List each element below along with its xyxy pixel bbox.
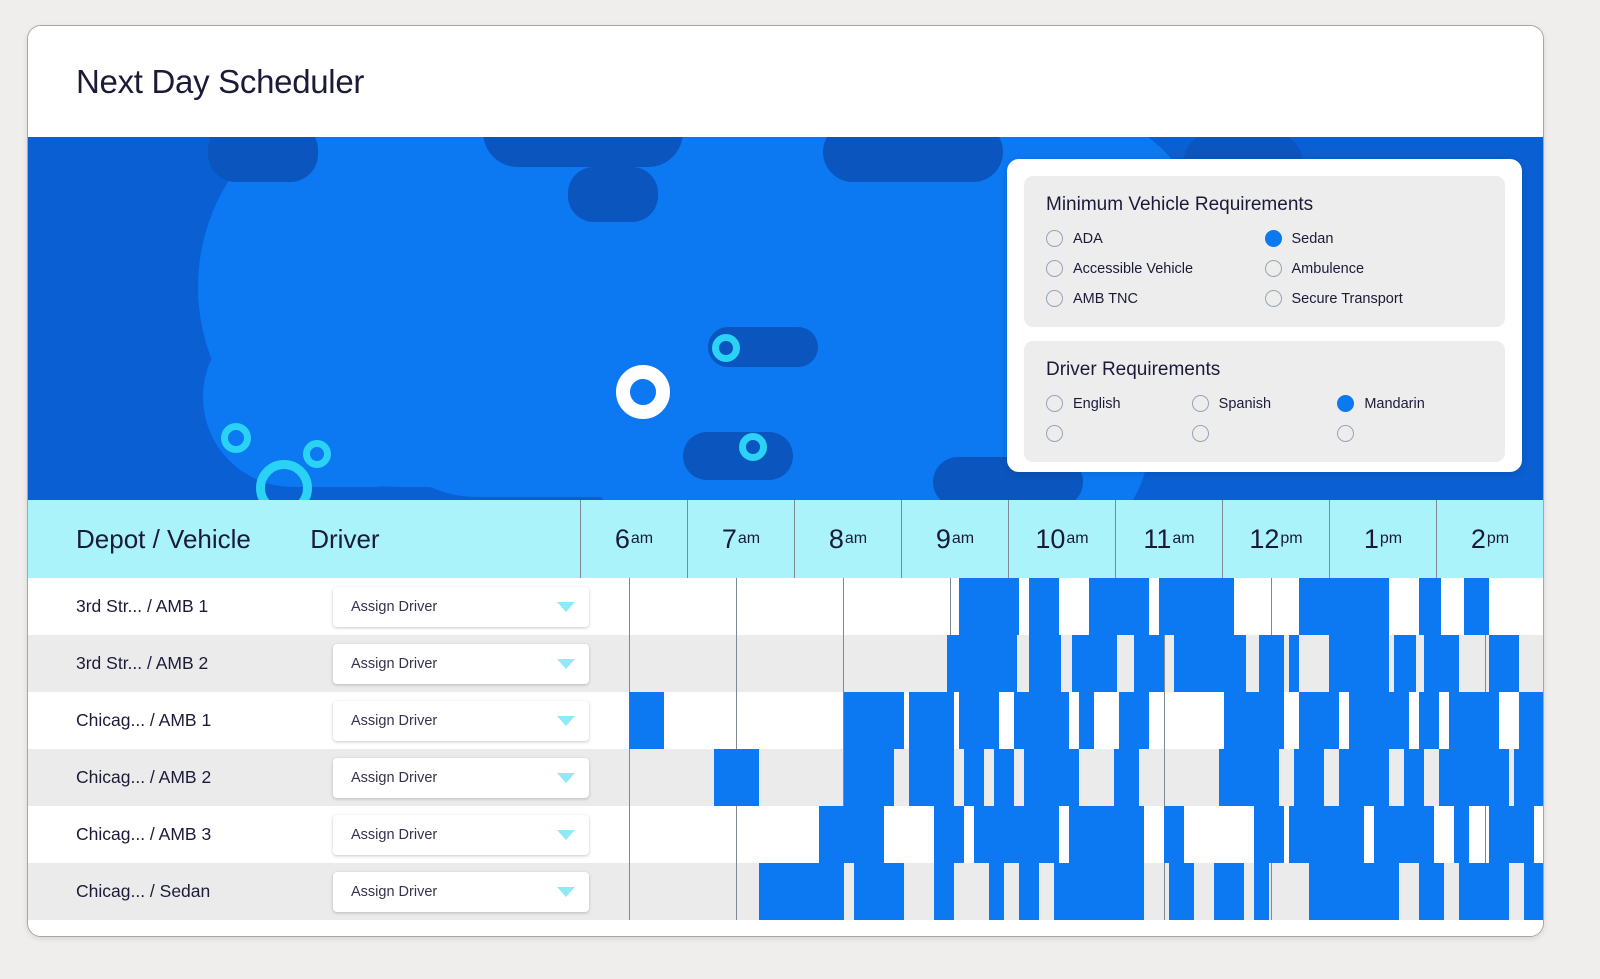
option-secure-transport[interactable]: Secure Transport bbox=[1265, 290, 1484, 307]
grid-line bbox=[1164, 863, 1165, 920]
hour-number: 6 bbox=[615, 524, 630, 555]
option-extra[interactable] bbox=[1046, 425, 1192, 442]
hour-suffix: pm bbox=[1280, 530, 1302, 548]
grid-line bbox=[1164, 635, 1165, 692]
trip-bar[interactable] bbox=[1489, 806, 1534, 863]
grid-line bbox=[1485, 635, 1486, 692]
assign-driver-label: Assign Driver bbox=[351, 656, 437, 672]
service-area-map[interactable]: Minimum Vehicle Requirements ADA Sedan A… bbox=[28, 137, 1543, 500]
hour-suffix: am bbox=[631, 530, 653, 548]
trip-bar[interactable] bbox=[1289, 806, 1364, 863]
app-header: Next Day Scheduler bbox=[28, 26, 1543, 137]
hour-header-12pm: 12pm bbox=[1222, 500, 1329, 578]
hour-axis: 6am7am8am9am10am11am12pm1pm2pm bbox=[580, 500, 1543, 578]
assign-driver-select[interactable]: Assign Driver bbox=[333, 872, 589, 912]
grid-line bbox=[629, 578, 630, 635]
hour-suffix: am bbox=[845, 530, 867, 548]
map-marker[interactable] bbox=[221, 423, 251, 453]
trip-bar[interactable] bbox=[1114, 749, 1139, 806]
option-label: ADA bbox=[1073, 231, 1103, 247]
assign-driver-select[interactable]: Assign Driver bbox=[333, 644, 589, 684]
trip-bar[interactable] bbox=[1329, 635, 1389, 692]
radio-icon[interactable] bbox=[1046, 260, 1063, 277]
hour-suffix: am bbox=[1066, 530, 1088, 548]
trip-bar[interactable] bbox=[1254, 806, 1284, 863]
driver-requirements-card: Driver Requirements English Spanish Mand… bbox=[1024, 341, 1505, 462]
grid-line bbox=[1271, 578, 1272, 635]
timeline-track[interactable] bbox=[629, 863, 1543, 920]
trip-bar[interactable] bbox=[1079, 692, 1094, 749]
requirements-panel: Minimum Vehicle Requirements ADA Sedan A… bbox=[1007, 159, 1522, 472]
depot-vehicle-label: 3rd Str... / AMB 1 bbox=[28, 578, 333, 635]
radio-icon[interactable] bbox=[1265, 260, 1282, 277]
trip-bar[interactable] bbox=[1519, 692, 1543, 749]
grid-line bbox=[736, 578, 737, 635]
grid-line bbox=[1485, 806, 1486, 863]
assign-driver-label: Assign Driver bbox=[351, 827, 437, 843]
trip-bar[interactable] bbox=[1014, 692, 1069, 749]
hour-suffix: am bbox=[738, 530, 760, 548]
vehicle-requirements-card: Minimum Vehicle Requirements ADA Sedan A… bbox=[1024, 176, 1505, 327]
option-extra[interactable] bbox=[1192, 425, 1338, 442]
trip-bar[interactable] bbox=[1394, 635, 1416, 692]
grid-line bbox=[629, 749, 630, 806]
schedule-header-row: Depot / Vehicle Driver 6am7am8am9am10am1… bbox=[28, 500, 1543, 578]
depot-vehicle-label: Chicag... / AMB 1 bbox=[28, 692, 333, 749]
hour-header-10am: 10am bbox=[1008, 500, 1115, 578]
trip-bar[interactable] bbox=[909, 749, 954, 806]
radio-icon[interactable] bbox=[1192, 395, 1209, 412]
option-label: AMB TNC bbox=[1073, 291, 1138, 307]
driver-requirements-options: English Spanish Mandarin bbox=[1046, 395, 1483, 442]
table-row[interactable]: 3rd Str... / AMB 1Assign Driver bbox=[28, 578, 1543, 635]
table-row[interactable]: Chicag... / AMB 2Assign Driver bbox=[28, 749, 1543, 806]
driver-cell: Assign Driver bbox=[333, 749, 629, 806]
table-row[interactable]: Chicag... / AMB 1Assign Driver bbox=[28, 692, 1543, 749]
map-blob-dark bbox=[568, 167, 658, 222]
grid-line bbox=[1271, 863, 1272, 920]
trip-bar[interactable] bbox=[844, 692, 904, 749]
trip-bar[interactable] bbox=[1449, 692, 1499, 749]
grid-line bbox=[950, 578, 951, 635]
hour-header-7am: 7am bbox=[687, 500, 794, 578]
hour-suffix: am bbox=[1172, 530, 1194, 548]
chevron-down-icon[interactable] bbox=[557, 773, 575, 783]
timeline-track[interactable] bbox=[629, 635, 1543, 692]
trip-bar[interactable] bbox=[989, 863, 1004, 920]
table-row[interactable]: Chicag... / SedanAssign Driver bbox=[28, 863, 1543, 920]
trip-bar[interactable] bbox=[974, 806, 1059, 863]
option-label: English bbox=[1073, 396, 1121, 412]
driver-cell: Assign Driver bbox=[333, 692, 629, 749]
trip-bar[interactable] bbox=[1072, 635, 1117, 692]
option-amb-tnc[interactable]: AMB TNC bbox=[1046, 290, 1265, 307]
map-blob-dark bbox=[683, 432, 793, 480]
trip-bar[interactable] bbox=[1524, 863, 1543, 920]
assign-driver-select[interactable]: Assign Driver bbox=[333, 758, 589, 798]
trip-bar[interactable] bbox=[1159, 578, 1234, 635]
assign-driver-select[interactable]: Assign Driver bbox=[333, 815, 589, 855]
trip-bar[interactable] bbox=[1024, 749, 1079, 806]
trip-bar[interactable] bbox=[947, 635, 1017, 692]
trip-bar[interactable] bbox=[1219, 749, 1279, 806]
trip-bar[interactable] bbox=[1069, 806, 1144, 863]
trip-bar[interactable] bbox=[759, 863, 844, 920]
vehicle-requirements-options: ADA Sedan Accessible Vehicle Ambulence bbox=[1046, 230, 1483, 307]
option-label: Secure Transport bbox=[1292, 291, 1403, 307]
grid-line bbox=[629, 635, 630, 692]
map-marker-selected[interactable] bbox=[616, 365, 670, 419]
timeline-track[interactable] bbox=[629, 749, 1543, 806]
option-accessible-vehicle[interactable]: Accessible Vehicle bbox=[1046, 260, 1265, 277]
radio-icon-selected[interactable] bbox=[1337, 395, 1354, 412]
trip-bar[interactable] bbox=[1419, 578, 1441, 635]
trip-bar[interactable] bbox=[1349, 692, 1409, 749]
trip-bar[interactable] bbox=[994, 749, 1014, 806]
trip-bar[interactable] bbox=[1019, 863, 1039, 920]
assign-driver-select[interactable]: Assign Driver bbox=[333, 701, 589, 741]
grid-line bbox=[736, 692, 737, 749]
hour-number: 11 bbox=[1143, 524, 1171, 555]
trip-bar[interactable] bbox=[1459, 863, 1509, 920]
map-marker[interactable] bbox=[712, 334, 740, 362]
trip-bar[interactable] bbox=[1289, 635, 1299, 692]
assign-driver-select[interactable]: Assign Driver bbox=[333, 587, 589, 627]
trip-bar[interactable] bbox=[1214, 863, 1244, 920]
hour-header-2pm: 2pm bbox=[1436, 500, 1543, 578]
map-blob-dark bbox=[823, 137, 1003, 182]
radio-icon[interactable] bbox=[1046, 395, 1063, 412]
trip-bar[interactable] bbox=[1419, 863, 1444, 920]
hour-header-9am: 9am bbox=[901, 500, 1008, 578]
trip-bar[interactable] bbox=[1374, 806, 1434, 863]
radio-icon[interactable] bbox=[1046, 425, 1063, 442]
depot-vehicle-label: 3rd Str... / AMB 2 bbox=[28, 635, 333, 692]
hour-number: 9 bbox=[936, 524, 951, 555]
radio-icon[interactable] bbox=[1192, 425, 1209, 442]
trip-bar[interactable] bbox=[1454, 806, 1469, 863]
radio-icon[interactable] bbox=[1046, 230, 1063, 247]
trip-bar[interactable] bbox=[1089, 578, 1149, 635]
hour-header-1pm: 1pm bbox=[1329, 500, 1436, 578]
trip-bar[interactable] bbox=[959, 578, 1019, 635]
driver-cell: Assign Driver bbox=[333, 578, 629, 635]
option-label: Ambulence bbox=[1292, 261, 1365, 277]
grid-line bbox=[843, 635, 844, 692]
trip-bar[interactable] bbox=[1029, 578, 1059, 635]
trip-bar[interactable] bbox=[1199, 578, 1221, 635]
radio-icon[interactable] bbox=[1265, 290, 1282, 307]
trip-bar[interactable] bbox=[1514, 749, 1543, 806]
radio-icon[interactable] bbox=[1046, 290, 1063, 307]
assign-driver-label: Assign Driver bbox=[351, 770, 437, 786]
assign-driver-label: Assign Driver bbox=[351, 713, 437, 729]
hour-suffix: pm bbox=[1487, 530, 1509, 548]
radio-icon[interactable] bbox=[1337, 425, 1354, 442]
option-ambulence[interactable]: Ambulence bbox=[1265, 260, 1484, 277]
hour-number: 12 bbox=[1249, 524, 1279, 555]
trip-bar[interactable] bbox=[1164, 806, 1184, 863]
map-blob-dark bbox=[208, 137, 318, 182]
assign-driver-label: Assign Driver bbox=[351, 599, 437, 615]
timeline-track[interactable] bbox=[629, 806, 1543, 863]
hour-number: 10 bbox=[1035, 524, 1065, 555]
option-label: Mandarin bbox=[1364, 396, 1424, 412]
trip-bar[interactable] bbox=[844, 749, 894, 806]
option-english[interactable]: English bbox=[1046, 395, 1192, 412]
trip-bar[interactable] bbox=[1169, 863, 1194, 920]
trip-bar[interactable] bbox=[1134, 635, 1164, 692]
hour-number: 2 bbox=[1471, 524, 1486, 555]
chevron-down-icon[interactable] bbox=[557, 716, 575, 726]
trip-bar[interactable] bbox=[1054, 863, 1144, 920]
driver-requirements-title: Driver Requirements bbox=[1046, 359, 1483, 381]
trip-bar[interactable] bbox=[1309, 863, 1399, 920]
trip-bar[interactable] bbox=[1254, 863, 1269, 920]
driver-cell: Assign Driver bbox=[333, 806, 629, 863]
chevron-down-icon[interactable] bbox=[557, 830, 575, 840]
scheduler-window: Next Day Scheduler Minimum Vehicle Requi… bbox=[27, 25, 1544, 937]
grid-line bbox=[629, 863, 630, 920]
hour-suffix: am bbox=[952, 530, 974, 548]
trip-bar[interactable] bbox=[1299, 692, 1339, 749]
trip-bar[interactable] bbox=[714, 749, 759, 806]
hour-number: 7 bbox=[722, 524, 737, 555]
depot-vehicle-label: Chicag... / AMB 2 bbox=[28, 749, 333, 806]
trip-bar[interactable] bbox=[629, 692, 664, 749]
trip-bar[interactable] bbox=[959, 692, 999, 749]
column-header-depot: Depot / Vehicle bbox=[28, 500, 310, 578]
map-blob bbox=[203, 307, 463, 487]
map-blob-dark bbox=[483, 137, 683, 167]
option-spanish[interactable]: Spanish bbox=[1192, 395, 1338, 412]
depot-vehicle-label: Chicag... / AMB 3 bbox=[28, 806, 333, 863]
hour-number: 1 bbox=[1364, 524, 1379, 555]
trip-bar[interactable] bbox=[1464, 578, 1489, 635]
option-sedan[interactable]: Sedan bbox=[1265, 230, 1484, 247]
hour-header-8am: 8am bbox=[794, 500, 901, 578]
trip-bar[interactable] bbox=[909, 692, 954, 749]
trip-bar[interactable] bbox=[934, 863, 954, 920]
depot-vehicle-label: Chicag... / Sedan bbox=[28, 863, 333, 920]
grid-line bbox=[843, 578, 844, 635]
assign-driver-label: Assign Driver bbox=[351, 884, 437, 900]
map-marker[interactable] bbox=[739, 433, 767, 461]
grid-line bbox=[736, 863, 737, 920]
column-header-driver: Driver bbox=[310, 500, 580, 578]
trip-bar[interactable] bbox=[1419, 692, 1439, 749]
trip-bar[interactable] bbox=[1404, 749, 1424, 806]
chevron-down-icon[interactable] bbox=[557, 659, 575, 669]
table-row[interactable]: 3rd Str... / AMB 2Assign Driver bbox=[28, 635, 1543, 692]
table-row[interactable]: Chicag... / AMB 3Assign Driver bbox=[28, 806, 1543, 863]
driver-cell: Assign Driver bbox=[333, 863, 629, 920]
timeline-track[interactable] bbox=[629, 578, 1543, 635]
trip-bar[interactable] bbox=[1424, 635, 1459, 692]
hour-header-6am: 6am bbox=[580, 500, 687, 578]
trip-bar[interactable] bbox=[1119, 692, 1149, 749]
chevron-down-icon[interactable] bbox=[557, 887, 575, 897]
timeline-track[interactable] bbox=[629, 692, 1543, 749]
option-label: Spanish bbox=[1219, 396, 1271, 412]
chevron-down-icon[interactable] bbox=[557, 602, 575, 612]
grid-line bbox=[1164, 692, 1165, 749]
trip-bar[interactable] bbox=[1299, 578, 1389, 635]
page-title: Next Day Scheduler bbox=[76, 63, 364, 101]
trip-bar[interactable] bbox=[964, 749, 984, 806]
hour-number: 8 bbox=[829, 524, 844, 555]
radio-icon-selected[interactable] bbox=[1265, 230, 1282, 247]
vehicle-requirements-title: Minimum Vehicle Requirements bbox=[1046, 194, 1483, 216]
driver-cell: Assign Driver bbox=[333, 635, 629, 692]
option-label: Sedan bbox=[1292, 231, 1334, 247]
hour-suffix: pm bbox=[1380, 530, 1402, 548]
option-label: Accessible Vehicle bbox=[1073, 261, 1193, 277]
trip-bar[interactable] bbox=[819, 806, 884, 863]
map-marker[interactable] bbox=[303, 440, 331, 468]
grid-line bbox=[736, 635, 737, 692]
hour-header-11am: 11am bbox=[1115, 500, 1222, 578]
grid-line bbox=[736, 806, 737, 863]
trip-bar[interactable] bbox=[1439, 749, 1509, 806]
trip-bar[interactable] bbox=[1489, 635, 1519, 692]
option-extra[interactable] bbox=[1337, 425, 1483, 442]
trip-bar[interactable] bbox=[934, 806, 964, 863]
trip-bar[interactable] bbox=[1174, 635, 1246, 692]
trip-bar[interactable] bbox=[1339, 749, 1389, 806]
trip-bar[interactable] bbox=[1029, 635, 1061, 692]
option-ada[interactable]: ADA bbox=[1046, 230, 1265, 247]
grid-line bbox=[1164, 749, 1165, 806]
trip-bar[interactable] bbox=[1259, 635, 1284, 692]
trip-bar[interactable] bbox=[1294, 749, 1324, 806]
option-mandarin[interactable]: Mandarin bbox=[1337, 395, 1483, 412]
schedule-rows: 3rd Str... / AMB 1Assign Driver3rd Str..… bbox=[28, 578, 1543, 920]
trip-bar[interactable] bbox=[1224, 692, 1284, 749]
schedule-gantt: Depot / Vehicle Driver 6am7am8am9am10am1… bbox=[28, 500, 1543, 937]
grid-line bbox=[629, 806, 630, 863]
trip-bar[interactable] bbox=[854, 863, 904, 920]
